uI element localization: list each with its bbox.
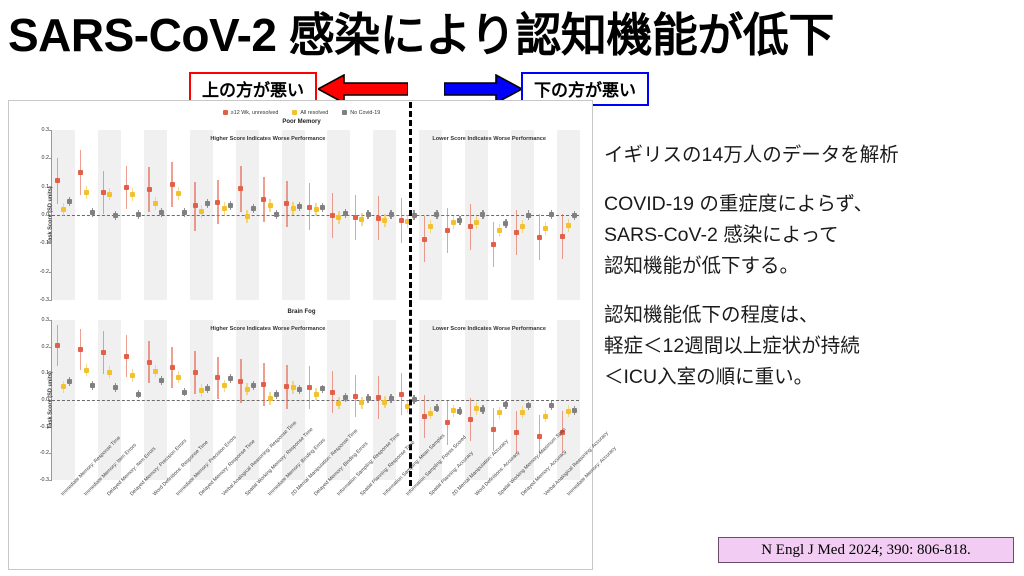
summary-text-line: SARS-CoV-2 感染によって	[604, 220, 1014, 251]
summary-text-line: 軽症＜12週間以上症状が持続	[604, 331, 1014, 362]
point-estimate-dot	[480, 212, 485, 217]
chart-legend: ≥12 Wk, unresolvedAll resolvedNo Covid-1…	[9, 107, 594, 118]
y-axis-tick-label: 0.2	[42, 344, 50, 350]
point-estimate-dot	[572, 213, 577, 218]
data-point-marker	[341, 130, 349, 300]
y-axis-tick-mark	[49, 453, 52, 454]
data-point-marker	[66, 320, 74, 480]
summary-text-block: イギリスの14万人のデータを解析COVID-19 の重症度によらず、SARS-C…	[604, 140, 1014, 393]
legend-label: No Covid-19	[350, 110, 380, 116]
data-point-marker	[456, 320, 464, 480]
point-estimate-dot	[274, 392, 279, 397]
data-point-marker	[249, 130, 257, 300]
point-estimate-dot	[572, 408, 577, 413]
point-estimate-dot	[366, 396, 371, 401]
chart-panel-poor-memory: Poor Memory 0.30.20.10.0-0.1-0.2-0.3Task…	[9, 119, 594, 309]
point-estimate-dot	[503, 402, 508, 407]
data-point-marker	[548, 320, 556, 480]
point-estimate-dot	[526, 213, 531, 218]
data-point-marker	[203, 130, 211, 300]
y-axis-tick-mark	[49, 272, 52, 273]
legend-label: ≥12 Wk, unresolved	[231, 110, 279, 116]
data-point-marker	[525, 130, 533, 300]
data-point-marker	[548, 130, 556, 300]
data-point-marker	[318, 320, 326, 480]
text-spacer	[604, 171, 1014, 189]
point-estimate-dot	[549, 403, 554, 408]
data-point-marker	[272, 130, 280, 300]
text-spacer	[604, 282, 1014, 300]
legend-label: All resolved	[300, 110, 328, 116]
y-axis-tick-label: 0.3	[42, 127, 50, 133]
point-estimate-dot	[90, 210, 95, 215]
summary-text-line: イギリスの14万人のデータを解析	[604, 140, 1014, 171]
y-axis-tick-mark	[49, 480, 52, 481]
y-axis-tick-mark	[49, 130, 52, 131]
summary-text-line: 認知機能低下の程度は、	[604, 300, 1014, 331]
data-point-marker	[135, 130, 143, 300]
data-point-marker	[479, 320, 487, 480]
point-estimate-dot	[67, 199, 72, 204]
y-axis-tick-mark	[49, 320, 52, 321]
data-point-marker	[158, 130, 166, 300]
x-axis-labels: Immediate Memory: Response TimeImmediate…	[51, 493, 579, 567]
point-estimate-dot	[113, 385, 118, 390]
legend-swatch-icon	[292, 110, 297, 115]
plot-area-bottom: 0.30.20.10.0-0.1-0.2-0.3Task Score (SD u…	[51, 320, 579, 480]
summary-text-line: ＜ICU入室の順に重い。	[604, 362, 1014, 393]
point-estimate-dot	[136, 212, 141, 217]
point-estimate-dot	[159, 210, 164, 215]
panel-divider-line	[409, 102, 412, 306]
y-axis-tick-label: -0.2	[40, 450, 49, 456]
data-point-marker	[433, 320, 441, 480]
data-point-marker	[433, 130, 441, 300]
point-estimate-dot	[320, 205, 325, 210]
point-estimate-dot	[526, 403, 531, 408]
page-title: SARS-CoV-2 感染により認知機能が低下	[8, 4, 1018, 66]
data-point-marker	[295, 130, 303, 300]
point-estimate-dot	[297, 387, 302, 392]
point-estimate-dot	[182, 210, 187, 215]
point-estimate-dot	[90, 383, 95, 388]
summary-text-line: COVID-19 の重症度によらず、	[604, 189, 1014, 220]
y-axis-tick-mark	[49, 158, 52, 159]
figure-panel: ≥12 Wk, unresolvedAll resolvedNo Covid-1…	[8, 100, 593, 570]
data-point-marker	[387, 320, 395, 480]
point-estimate-dot	[389, 396, 394, 401]
data-point-marker	[226, 130, 234, 300]
legend-swatch-icon	[223, 110, 228, 115]
point-estimate-dot	[136, 392, 141, 397]
point-estimate-dot	[457, 218, 462, 223]
point-estimate-dot	[366, 212, 371, 217]
data-point-marker	[66, 130, 74, 300]
point-estimate-dot	[320, 386, 325, 391]
point-estimate-dot	[434, 212, 439, 217]
point-estimate-dot	[159, 378, 164, 383]
point-estimate-dot	[549, 212, 554, 217]
y-axis-tick-label: -0.3	[40, 297, 49, 303]
point-estimate-dot	[389, 212, 394, 217]
point-estimate-dot	[182, 390, 187, 395]
point-estimate-dot	[205, 201, 210, 206]
y-axis-tick-label: 0.2	[42, 155, 50, 161]
panel-title-bottom: Brain Fog	[9, 309, 594, 315]
point-estimate-dot	[503, 221, 508, 226]
point-estimate-dot	[412, 397, 417, 402]
point-estimate-dot	[251, 206, 256, 211]
data-point-marker	[525, 320, 533, 480]
legend-item: All resolved	[292, 110, 328, 116]
point-estimate-dot	[67, 379, 72, 384]
point-estimate-dot	[274, 212, 279, 217]
point-estimate-dot	[113, 213, 118, 218]
data-point-marker	[89, 130, 97, 300]
point-estimate-dot	[343, 211, 348, 216]
point-estimate-dot	[412, 213, 417, 218]
point-estimate-dot	[228, 203, 233, 208]
data-point-marker	[502, 320, 510, 480]
data-point-marker	[387, 130, 395, 300]
y-axis-tick-label: 0.3	[42, 317, 50, 323]
point-estimate-dot	[228, 376, 233, 381]
point-estimate-dot	[205, 386, 210, 391]
panel-title-top: Poor Memory	[9, 119, 594, 125]
y-axis-tick-mark	[49, 347, 52, 348]
summary-text-line: 認知機能が低下する。	[604, 251, 1014, 282]
data-point-marker	[502, 130, 510, 300]
data-point-marker	[456, 130, 464, 300]
y-axis-tick-label: -0.3	[40, 477, 49, 483]
data-point-marker	[318, 130, 326, 300]
y-axis-tick-label: -0.2	[40, 269, 49, 275]
legend-item: No Covid-19	[342, 110, 380, 116]
data-point-marker	[479, 130, 487, 300]
y-axis-tick-mark	[49, 300, 52, 301]
legend-swatch-icon	[342, 110, 347, 115]
point-estimate-dot	[457, 409, 462, 414]
point-estimate-dot	[343, 395, 348, 400]
point-estimate-dot	[434, 406, 439, 411]
data-point-marker	[341, 320, 349, 480]
data-point-marker	[364, 130, 372, 300]
data-point-marker	[112, 130, 120, 300]
point-estimate-dot	[297, 204, 302, 209]
citation-box: N Engl J Med 2024; 390: 806-818.	[718, 537, 1014, 563]
plot-area-top: 0.30.20.10.0-0.1-0.2-0.3Task Score (SD u…	[51, 130, 579, 300]
data-point-marker	[180, 130, 188, 300]
point-estimate-dot	[480, 407, 485, 412]
point-estimate-dot	[251, 383, 256, 388]
data-point-marker	[571, 130, 579, 300]
data-point-marker	[364, 320, 372, 480]
panel-divider-line	[409, 292, 412, 486]
data-point-marker	[571, 320, 579, 480]
legend-item: ≥12 Wk, unresolved	[223, 110, 279, 116]
